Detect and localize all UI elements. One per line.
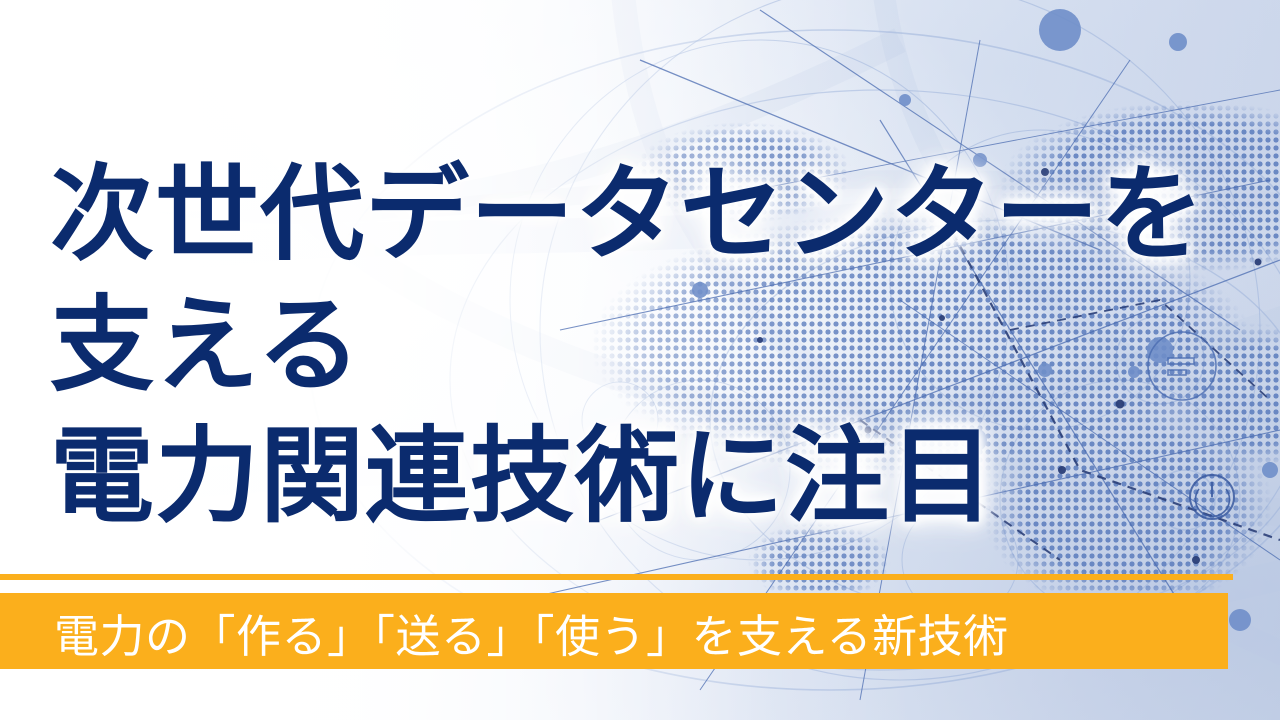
title-slide: 次世代データセンターを 支える 電力関連技術に注目 電力の「作る」「送る」「使う… [0, 0, 1280, 720]
subtitle-text: 電力の「作る」「送る」「使う」を支える新技術 [54, 597, 1009, 667]
title-line-3: 電力関連技術に注目 [50, 412, 1250, 543]
title-line-2: 支える [50, 281, 1250, 412]
page-title: 次世代データセンターを 支える 電力関連技術に注目 [50, 150, 1250, 543]
title-line-1: 次世代データセンターを [50, 150, 1250, 281]
banner-top-rule [0, 574, 1233, 580]
